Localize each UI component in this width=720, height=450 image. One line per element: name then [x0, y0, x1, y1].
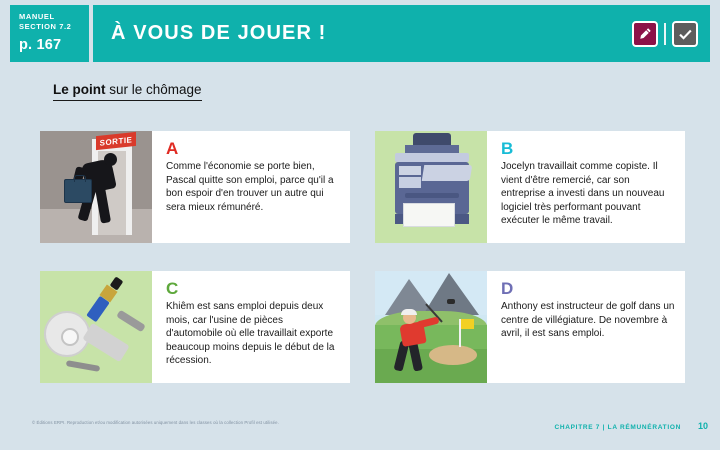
exit-door-icon	[40, 131, 152, 243]
badge-page-number: p. 167	[19, 36, 89, 54]
scenario-text-c: Khiêm est sans emploi depuis deux mois, …	[166, 300, 340, 368]
footer-page-number: 10	[698, 421, 708, 431]
pencil-icon[interactable]	[632, 21, 658, 47]
check-icon[interactable]	[672, 21, 698, 47]
scenario-card-a-body: A Comme l'économie se porte bien, Pascal…	[152, 131, 350, 243]
header-title-bar: À VOUS DE JOUER !	[93, 5, 710, 62]
page-header: MANUEL SECTION 7.2 p. 167 À VOUS DE JOUE…	[10, 5, 710, 62]
scenario-card-c-body: C Khiêm est sans emploi depuis deux mois…	[152, 271, 350, 383]
copyright-notice: © Éditions ERPI. Reproduction et/ou modi…	[32, 420, 279, 425]
badge-manual-label: MANUEL	[19, 12, 89, 22]
scenario-letter-c: C	[166, 280, 340, 297]
golfer-icon	[375, 271, 487, 383]
section-heading-strong: Le point	[53, 82, 106, 97]
footer-chapter-label: CHAPITRE 7 | LA RÉMUNÉRATION	[554, 424, 681, 431]
photocopier-icon	[375, 131, 487, 243]
badge-section-label: SECTION 7.2	[19, 22, 89, 32]
manual-reference-badge: MANUEL SECTION 7.2 p. 167	[10, 5, 89, 62]
icon-separator	[664, 23, 666, 45]
scenario-text-a: Comme l'économie se porte bien, Pascal q…	[166, 160, 340, 214]
page-title: À VOUS DE JOUER !	[111, 22, 326, 45]
section-heading-light: sur le chômage	[106, 82, 202, 97]
scenario-card-grid: A Comme l'économie se porte bien, Pascal…	[40, 131, 685, 396]
scenario-text-d: Anthony est instructeur de golf dans un …	[501, 300, 675, 341]
scenario-card-a: A Comme l'économie se porte bien, Pascal…	[40, 131, 350, 243]
scenario-letter-a: A	[166, 140, 340, 157]
scenario-card-d-body: D Anthony est instructeur de golf dans u…	[487, 271, 685, 383]
automobile-parts-icon	[40, 271, 152, 383]
scenario-letter-b: B	[501, 140, 675, 157]
header-tool-icons	[632, 21, 698, 47]
scenario-card-b-body: B Jocelyn travaillait comme copiste. Il …	[487, 131, 685, 243]
scenario-card-c: C Khiêm est sans emploi depuis deux mois…	[40, 271, 350, 383]
scenario-card-d: D Anthony est instructeur de golf dans u…	[375, 271, 685, 383]
footer-chapter-info: CHAPITRE 7 | LA RÉMUNÉRATION 10	[554, 421, 708, 431]
scenario-letter-d: D	[501, 280, 675, 297]
section-heading: Le point sur le chômage	[53, 82, 202, 101]
scenario-text-b: Jocelyn travaillait comme copiste. Il vi…	[501, 160, 675, 228]
scenario-card-b: B Jocelyn travaillait comme copiste. Il …	[375, 131, 685, 243]
